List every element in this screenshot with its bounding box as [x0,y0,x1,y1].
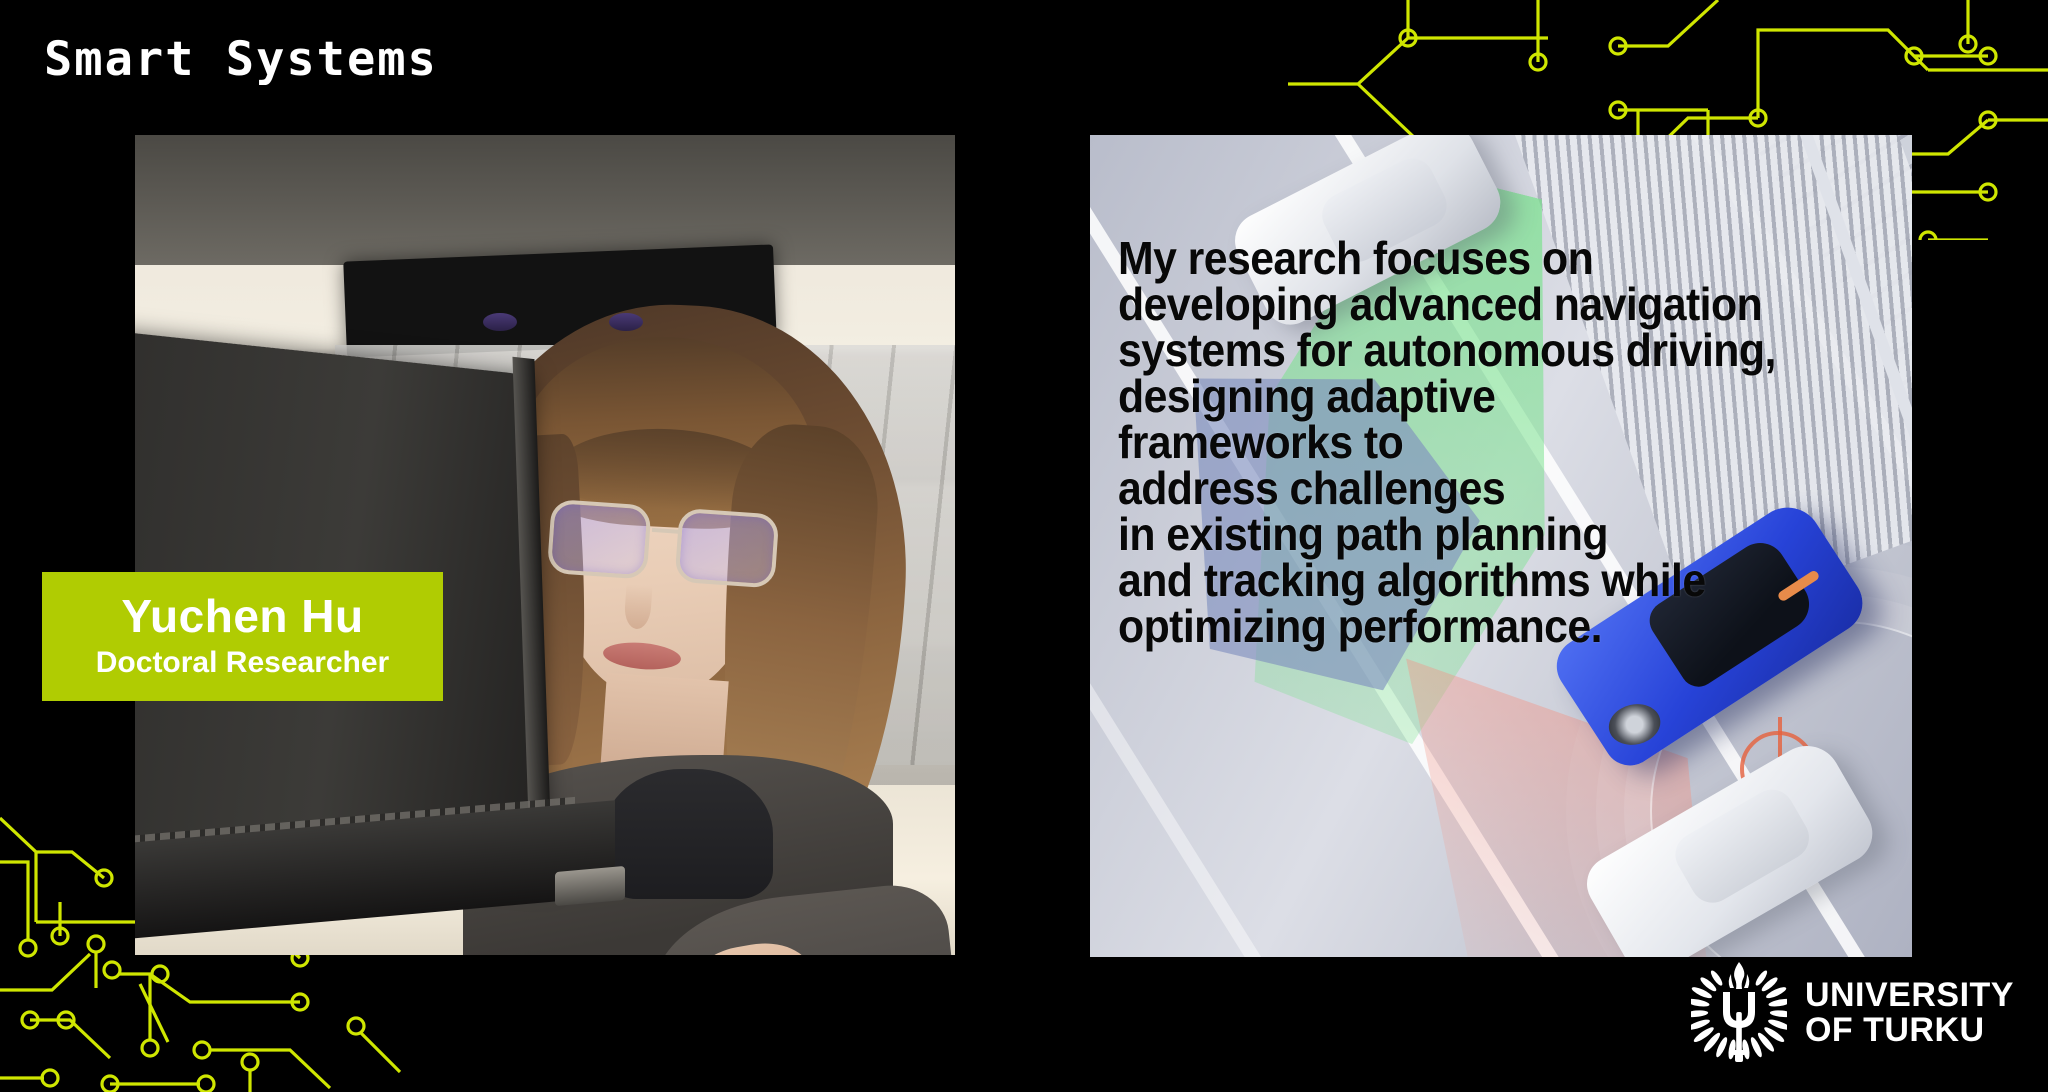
researcher-name: Yuchen Hu [42,592,443,640]
research-statement: My research focuses on developing advanc… [1118,235,1836,649]
car-wheel [1605,699,1665,750]
inner-shirt [603,769,773,899]
page-title: Smart Systems [44,32,438,87]
research-image-card: My research focuses on developing advanc… [1090,135,1912,957]
ceiling-band [135,135,955,265]
wordmark-line-1: UNIVERSITY [1805,978,2014,1013]
lens-right [674,508,779,589]
wordmark-line-2: OF TURKU [1805,1013,2014,1048]
eyeglasses-icon [546,495,787,595]
eye-right [609,313,643,331]
lens-left [547,499,652,580]
researcher-photo [135,135,955,955]
torch-and-laurel-wreath-icon [1691,958,1787,1068]
eye-left [483,313,517,331]
presentation-slide: Smart Systems [0,0,2048,1092]
researcher-role: Doctoral Researcher [42,646,443,679]
laptop-port [555,866,625,906]
university-wordmark: UNIVERSITY OF TURKU [1805,978,2014,1049]
glasses-bridge [652,528,682,534]
university-logo: UNIVERSITY OF TURKU [1691,958,2014,1068]
name-badge: Yuchen Hu Doctoral Researcher [42,572,443,701]
office-photo-scene [135,135,955,955]
